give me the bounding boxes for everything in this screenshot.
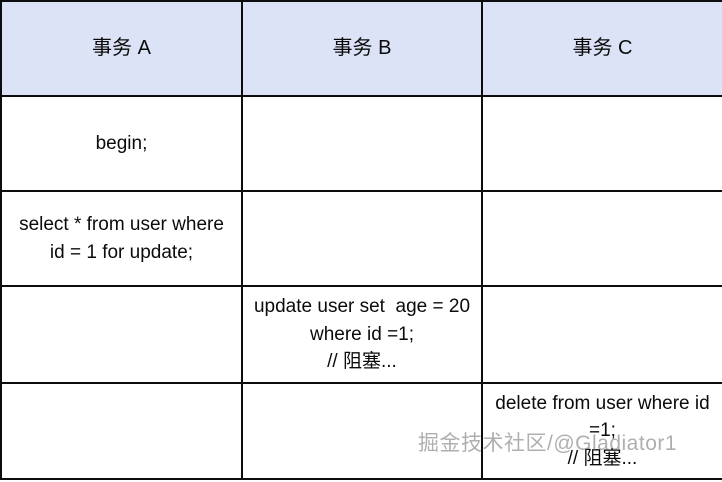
table-row: begin; (1, 96, 722, 191)
cell-c-delete-blocked: delete from user where id =1; // 阻塞... (482, 383, 722, 480)
cell-a-begin: begin; (1, 96, 242, 191)
cell-c-empty (482, 286, 722, 383)
table-row: update user set age = 20 where id =1; //… (1, 286, 722, 383)
header-row: 事务 A 事务 B 事务 C (1, 1, 722, 96)
table-row: delete from user where id =1; // 阻塞... (1, 383, 722, 480)
table-row: select * from user where id = 1 for upda… (1, 191, 722, 286)
cell-b-empty (242, 191, 482, 286)
cell-b-empty (242, 96, 482, 191)
cell-a-select-for-update: select * from user where id = 1 for upda… (1, 191, 242, 286)
cell-a-empty (1, 286, 242, 383)
column-header-transaction-b: 事务 B (242, 1, 482, 96)
cell-c-empty (482, 191, 722, 286)
cell-c-empty (482, 96, 722, 191)
cell-a-empty (1, 383, 242, 480)
column-header-transaction-c: 事务 C (482, 1, 722, 96)
table-body: begin; select * from user where id = 1 f… (1, 96, 722, 479)
transaction-lock-table: 事务 A 事务 B 事务 C begin; select * from user… (0, 0, 722, 480)
cell-b-update-blocked: update user set age = 20 where id =1; //… (242, 286, 482, 383)
column-header-transaction-a: 事务 A (1, 1, 242, 96)
cell-b-empty (242, 383, 482, 480)
table-header: 事务 A 事务 B 事务 C (1, 1, 722, 96)
